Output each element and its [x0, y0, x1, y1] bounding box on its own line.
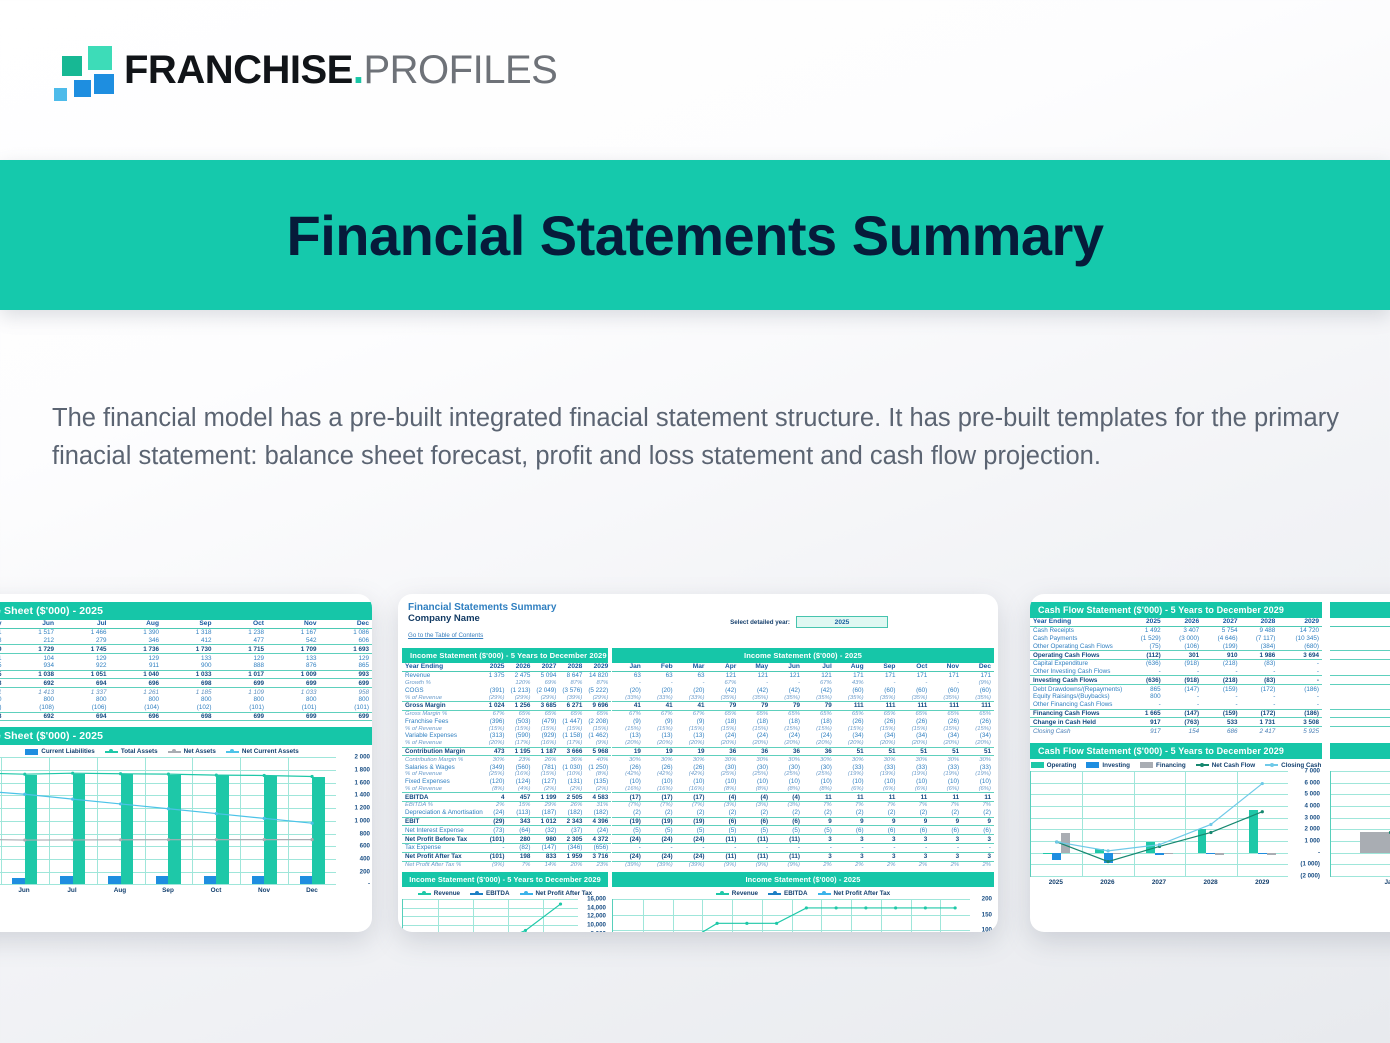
column-header: Year Ending [1030, 618, 1125, 626]
row-label: EBITDA [402, 793, 486, 802]
cash-flow-extra-x-axis: Jan [1330, 879, 1390, 886]
table-cell: (10%) [559, 771, 585, 778]
table-cell: (10) [676, 778, 708, 786]
table-cell: (47) [1330, 635, 1390, 643]
column-header: May [739, 663, 771, 671]
table-cell: (35%) [835, 694, 867, 701]
table-cell: 30% [739, 756, 771, 763]
table-cell: (24) [612, 835, 644, 844]
table-cell: (218) [1202, 659, 1240, 667]
table-cell: 3 [930, 852, 962, 861]
table-cell: (396) [486, 717, 508, 725]
legend-item: Net Profit After Tax [520, 890, 593, 897]
table-cell: (19%) [930, 771, 962, 778]
table-row: Tax Expense-(82)(147)(346)(656) [402, 843, 611, 852]
table-row: (17)(17)(17)(4)(4)(4)111111111111 [612, 793, 994, 802]
table-cell: 3 [835, 852, 867, 861]
table-cell: 911 [110, 662, 163, 670]
axis-tick-label: Jun [0, 887, 48, 894]
table-cell: (763) [1164, 718, 1202, 727]
table-cell: (929) [533, 732, 559, 740]
table-cell: (19%) [898, 771, 930, 778]
legend-item: Financing [1140, 762, 1186, 769]
table-cell: (11) [707, 835, 739, 844]
table-cell: (5) [707, 826, 739, 835]
table-cell: (25%) [486, 771, 508, 778]
table-cell: (6) [835, 826, 867, 835]
table-cell: - [739, 843, 771, 852]
table-cell: (147) [533, 843, 559, 852]
row-label: Cash Receipts [1030, 626, 1125, 634]
column-header: Dec [320, 620, 373, 628]
table-cell: 800 [57, 696, 110, 704]
table-row: 67%67%67%65%65%65%65%65%65%65%65%65% [612, 710, 994, 717]
table-cell: 171 [930, 671, 962, 679]
table-cell: (1 158) [559, 732, 585, 740]
table-cell: (2) [739, 809, 771, 817]
brand-name-dot: . [353, 48, 364, 92]
table-cell: (19%) [867, 771, 899, 778]
cash-flow-extra-plot [1330, 771, 1390, 877]
table-cell: 111 [835, 701, 867, 710]
table-cell: 2% [867, 861, 899, 868]
legend-item: Investing [1086, 762, 1130, 769]
table-cell: - [1241, 668, 1279, 676]
cash-flow-card: Cash Flow Statement ($'000) - 5 Years to… [1030, 594, 1390, 932]
table-cell: 3 407 [1164, 626, 1202, 634]
legend-item: Current Liabilities [25, 748, 95, 755]
column-header: Jan [612, 663, 644, 671]
table-cell: 154 [1164, 727, 1202, 735]
balance-sheet-table-title: Balance Sheet ($'000) - 2025 [0, 602, 372, 620]
table-cell: 51 [867, 747, 899, 756]
is-annual-table-title: Income Statement ($'000) - 5 Years to De… [402, 648, 608, 663]
legend-item: Net Assets [168, 748, 216, 755]
axis-tick-label: (1 000) [1300, 861, 1320, 868]
table-row: COGS(391)(1 213)(2 049)(3 576)(5 222) [402, 686, 611, 694]
table-cell: 5 968 [585, 747, 611, 756]
table-cell: (7 117) [1241, 635, 1279, 643]
table-cell: (15%) [507, 725, 533, 732]
table-row: Gross Margin %67%65%65%65%65% [402, 710, 611, 717]
table-cell: (187) [533, 809, 559, 817]
table-cell: (15%) [962, 725, 994, 732]
table-cell: 1 318 [162, 628, 215, 636]
table-cell: 30% [803, 756, 835, 763]
cash-flow-y-axis: 7 0006 0005 0004 0003 0002 0001 000-(1 0… [1288, 771, 1322, 877]
table-cell: 1 195 [507, 747, 533, 756]
legend-swatch [25, 749, 38, 755]
column-header: 2025 [486, 663, 508, 671]
column-header: Sep [867, 663, 899, 671]
table-row: Cash Payments(1 529)(3 000)(4 646)(7 117… [1030, 635, 1322, 643]
table-row: % of Revenue(29%)(29%)(29%)(39%)(29%) [402, 694, 611, 701]
table-cell: (10) [867, 778, 899, 786]
legend-swatch [520, 893, 533, 895]
table-cell: (17%) [507, 740, 533, 747]
table-row: 800800800800800800800800 [0, 696, 372, 704]
table-cell: (33%) [676, 694, 708, 701]
table-cell: - [1278, 659, 1322, 667]
table-cell: 2 505 [559, 793, 585, 802]
table-cell: 129 [320, 654, 373, 662]
table-cell: 30% [486, 756, 508, 763]
table-cell: 800 [320, 696, 373, 704]
table-cell: (37) [559, 826, 585, 835]
legend-swatch [1196, 764, 1209, 766]
table-cell: 3 [835, 835, 867, 844]
legend-swatch [105, 751, 118, 753]
table-row: (39%)(39%)(39%)(9%)(9%)(9%)2%2%2%2%2%2% [612, 861, 994, 868]
table-cell: - [1164, 693, 1202, 701]
table-row: Net Profit Before Tax(101)2809802 3054 3… [402, 835, 611, 844]
table-cell: 11 [835, 793, 867, 802]
column-header: 2029 [585, 663, 611, 671]
table-cell: 2% [835, 861, 867, 868]
table-cell: (313) [486, 732, 508, 740]
table-cell: (101) [486, 852, 508, 861]
table-cell: (15%) [533, 725, 559, 732]
legend-label: Current Liabilities [41, 748, 95, 755]
table-row: Fixed Expenses(120)(124)(127)(131)(135) [402, 778, 611, 786]
row-label: Change in Cash Held [1030, 718, 1125, 727]
table-cell: 171 [835, 671, 867, 679]
table-cell: 15% [507, 802, 533, 809]
table-cell: 9 488 [1241, 626, 1279, 634]
table-cell: (11) [707, 852, 739, 861]
table-cell: (20) [676, 686, 708, 694]
table-cell: 121 [803, 671, 835, 679]
table-cell: 1 199 [533, 793, 559, 802]
is-annual-plot [402, 899, 578, 932]
table-row: (24)(24)(24)(11)(11)(11)333333 [612, 852, 994, 861]
table-cell: 11 [962, 793, 994, 802]
table-cell: (4%) [507, 786, 533, 793]
table-cell: (9) [644, 717, 676, 725]
table-cell: - [1125, 668, 1163, 676]
table-cell: (8%) [803, 786, 835, 793]
table-cell: 40% [585, 756, 611, 763]
column-header: Nov [930, 663, 962, 671]
table-cell: (24) [585, 826, 611, 835]
table-cell: (2) [930, 809, 962, 817]
table-row: Investing Cash Flows(636)(918)(218)(83)- [1030, 676, 1322, 685]
brand-name-light: PROFILES [363, 48, 557, 92]
table-cell: 1 731 [1330, 718, 1390, 727]
table-cell: - [739, 680, 771, 687]
table-cell: (24) [803, 732, 835, 740]
table-cell: - [644, 843, 676, 852]
table-row: - [1330, 668, 1390, 676]
table-cell: (42%) [644, 771, 676, 778]
row-label: Gross Margin [402, 701, 486, 710]
table-cell: (391) [486, 686, 508, 694]
table-row: Contribution Margin %30%23%26%36%40% [402, 756, 611, 763]
table-cell: 4 372 [585, 835, 611, 844]
table-cell: 922 [57, 662, 110, 670]
table-row: Equity Raisings/(Buybacks)800---- [1030, 693, 1322, 701]
table-cell: (10) [835, 778, 867, 786]
table-cell: (5) [803, 826, 835, 835]
table-cell: 694 [57, 712, 110, 721]
table-cell: (6) [898, 826, 930, 835]
table-cell: 129 [57, 654, 110, 662]
table-cell: (1 030) [559, 763, 585, 771]
axis-tick-label: 400 [360, 855, 370, 862]
table-cell: 1 959 [559, 852, 585, 861]
table-cell: - [1278, 693, 1322, 701]
legend-swatch [1265, 764, 1278, 766]
table-cell: (17%) [559, 740, 585, 747]
row-label: % of Revenue [402, 771, 486, 778]
table-cell: 1 413 [5, 688, 58, 696]
table-cell [486, 680, 508, 687]
table-cell: 1 185 [162, 688, 215, 696]
row-label: Closing Cash [1030, 727, 1125, 735]
table-cell: 1 038 [5, 670, 58, 679]
table-cell: (29%) [507, 694, 533, 701]
table-cell: - [1164, 701, 1202, 709]
table-cell: - [867, 843, 899, 852]
table-cell: 7% [507, 861, 533, 868]
table-cell: (9%) [739, 861, 771, 868]
table-cell: (918) [1164, 659, 1202, 667]
table-cell: (15%) [533, 771, 559, 778]
table-cell: 3 [962, 852, 994, 861]
table-cell: - [1241, 693, 1279, 701]
table-cell: (11) [771, 852, 803, 861]
table-cell: (35%) [867, 694, 899, 701]
table-cell: 800 [1125, 693, 1163, 701]
table-row: Gross Margin1 0241 2563 6856 2719 696 [402, 701, 611, 710]
table-cell: 104 [5, 654, 58, 662]
table-cell: 1 051 [57, 670, 110, 679]
table-cell: (13) [644, 732, 676, 740]
table-cell: 111 [962, 701, 994, 710]
row-label: Net Profit After Tax [402, 852, 486, 861]
table-cell: (8%) [707, 786, 739, 793]
table-cell: (680) [1278, 642, 1322, 650]
row-label: Other Financing Cash Flows [1030, 701, 1125, 709]
table-cell: 4 396 [585, 817, 611, 826]
year-selector-label: Select detailed year: [730, 619, 790, 626]
legend-swatch [818, 893, 831, 895]
table-cell: 67% [644, 710, 676, 717]
table-row: % of Revenue(8%)(4%)(2%)(2%)(2%) [402, 786, 611, 793]
table-cell: (8%) [771, 786, 803, 793]
table-cell: (2) [612, 809, 644, 817]
table-row: 30%30%30%30%30%30%30%30%30%30%30%30% [612, 756, 994, 763]
table-cell: 3 716 [585, 852, 611, 861]
table-cell: (20%) [930, 740, 962, 747]
table-row: (16%)(16%)(16%)(8%)(8%)(8%)(8%)(6%)(6%)(… [612, 786, 994, 793]
table-cell: (106) [57, 704, 110, 712]
brand-wordmark: FRANCHISE.PROFILES [124, 48, 557, 93]
table-cell: (39%) [612, 861, 644, 868]
table-cell: (19) [612, 817, 644, 826]
table-cell: (33%) [644, 694, 676, 701]
table-cell: 2 475 [507, 671, 533, 679]
table-cell: (20%) [867, 740, 899, 747]
brand-logo: FRANCHISE.PROFILES [50, 44, 557, 96]
table-cell: 121 [739, 671, 771, 679]
axis-tick-label: 16,000 [587, 896, 606, 903]
balance-sheet-chart-legend: Current LiabilitiesTotal AssetsNet Asset… [0, 745, 372, 757]
column-header: Dec [962, 663, 994, 671]
axis-tick-label: 150 [982, 911, 992, 918]
table-cell: 11 [867, 793, 899, 802]
table-cell: (182) [559, 809, 585, 817]
table-cell: (1 447) [559, 717, 585, 725]
table-cell: (15%) [644, 725, 676, 732]
table-cell: 79 [707, 701, 739, 710]
table-cell: 9 [898, 817, 930, 826]
table-cell: - [898, 680, 930, 687]
legend-swatch [1140, 762, 1153, 768]
table-cell: (8%) [486, 786, 508, 793]
table-cell: 1 261 [110, 688, 163, 696]
table-cell: (33) [835, 763, 867, 771]
table-cell: (25%) [771, 771, 803, 778]
balance-sheet-x-axis: MayJunJulAugSepOctNovDec [0, 887, 336, 894]
table-row: 703692694696698699699699 [0, 712, 372, 721]
table-row: (20)(20)(20)(42)(42)(42)(42)(60)(60)(60)… [612, 686, 994, 694]
table-cell: 65% [533, 710, 559, 717]
legend-label: Net Profit After Tax [536, 890, 593, 897]
table-row: 636363121121121121171171171171171 [612, 671, 994, 679]
table-cell: (33%) [612, 694, 644, 701]
table-cell: 833 [533, 852, 559, 861]
table-cell: 65% [707, 710, 739, 717]
table-cell: (135) [585, 778, 611, 786]
legend-swatch [418, 893, 431, 895]
table-cell: (24) [707, 732, 739, 740]
legend-label: Net Cash Flow [1212, 762, 1255, 769]
table-cell: (15%) [612, 725, 644, 732]
table-cell: 1 730 [162, 645, 215, 654]
table-cell: (2) [707, 809, 739, 817]
table-cell: (503) [507, 717, 533, 725]
table-cell: 63 [612, 671, 644, 679]
table-cell: 30% [867, 756, 899, 763]
table-cell: (20%) [835, 740, 867, 747]
table-cell: 1 736 [110, 645, 163, 654]
table-cell: (33) [867, 763, 899, 771]
table-cell: 65% [739, 710, 771, 717]
table-row: Contribution Margin4731 1951 1873 6665 9… [402, 747, 611, 756]
table-cell: (349) [486, 763, 508, 771]
table-row: 41414179797979111111111111111 [612, 701, 994, 710]
table-cell: (9%) [486, 861, 508, 868]
table-cell: 876 [267, 662, 320, 670]
axis-tick-label: Jan [1330, 879, 1390, 886]
table-cell: (3 000) [1164, 635, 1202, 643]
table-cell: (29%) [585, 694, 611, 701]
table-cell: (42) [803, 686, 835, 694]
table-cell: (147) [1164, 709, 1202, 718]
table-cell: (10) [707, 778, 739, 786]
table-cell: (9%) [585, 740, 611, 747]
axis-tick-label: 2029 [1236, 879, 1288, 886]
row-label: Debt Drawdowns/(Repayments) [1030, 685, 1125, 693]
table-cell: 51 [930, 747, 962, 756]
table-cell: (15%) [867, 725, 899, 732]
table-cell: (4) [707, 793, 739, 802]
table-row: Depreciation & Amortisation(24)(113)(187… [402, 809, 611, 817]
table-row: 191919363636365151515151 [612, 747, 994, 756]
axis-tick-label: 1 200 [355, 805, 370, 812]
table-cell: (26) [835, 717, 867, 725]
table-cell: 9 [835, 817, 867, 826]
table-cell: 65% [771, 710, 803, 717]
table-row: EBIT(29)3431 0122 3434 396 [402, 817, 611, 826]
table-row: (7) [1330, 642, 1390, 650]
table-cell: (7%) [644, 802, 676, 809]
table-row: (7%)(7%)(7%)(3%)(3%)(3%)7%7%7%7%7%7% [612, 802, 994, 809]
table-cell: (10) [739, 778, 771, 786]
table-cell: (20%) [486, 740, 508, 747]
axis-tick-label: 2 000 [1305, 826, 1320, 833]
table-cell: 1 256 [507, 701, 533, 710]
table-cell: 1 665 [1125, 709, 1163, 718]
row-label: Fixed Expenses [402, 778, 486, 786]
legend-swatch [226, 751, 239, 753]
table-cell: 5 094 [533, 671, 559, 679]
table-cell: 1 745 [57, 645, 110, 654]
table-cell: (384) [1241, 642, 1279, 650]
table-row: % of Revenue(15%)(15%)(15%)(15%)(15%) [402, 725, 611, 732]
table-cell: 63 [676, 671, 708, 679]
legend-item: Net Cash Flow [1196, 762, 1255, 769]
table-cell: 2% [898, 861, 930, 868]
table-cell: (2) [835, 809, 867, 817]
table-cell: (918) [1164, 676, 1202, 685]
table-cell: (11) [739, 835, 771, 844]
table-cell: 800 [1330, 693, 1390, 701]
column-header: 2026 [507, 663, 533, 671]
table-cell: (35%) [803, 694, 835, 701]
table-row: Financing Cash Flows1 665(147)(159)(172)… [1030, 709, 1322, 718]
table-row: Net Profit After Tax(101)1988331 9593 71… [402, 852, 611, 861]
axis-tick-label: 800 [360, 830, 370, 837]
table-row: 178212279346412477542606 [0, 637, 372, 645]
table-row: Variable Expenses(313)(590)(929)(1 158)(… [402, 732, 611, 740]
table-cell: - [612, 843, 644, 852]
axis-tick-label: (2 000) [1300, 872, 1320, 879]
axis-tick-label: Aug [96, 887, 144, 894]
table-cell: (24) [676, 852, 708, 861]
table-cell: 19 [676, 747, 708, 756]
table-cell: (3%) [771, 802, 803, 809]
table-cell: 67% [612, 710, 644, 717]
row-label: Growth % [402, 680, 486, 687]
table-cell: (1 250) [585, 763, 611, 771]
table-cell: 1 033 [267, 688, 320, 696]
table-cell: (8%) [585, 771, 611, 778]
row-label: % of Revenue [402, 786, 486, 793]
table-cell: 800 [5, 696, 58, 704]
table-cell: - [898, 843, 930, 852]
axis-tick-label: 1 400 [355, 792, 370, 799]
table-of-contents-link[interactable]: Go to the Table of Contents [408, 632, 483, 639]
table-cell: 2% [930, 861, 962, 868]
table-cell: 699 [320, 712, 373, 721]
table-cell: (1 462) [585, 732, 611, 740]
table-cell: 6 271 [559, 701, 585, 710]
row-label: % of Revenue [402, 725, 486, 732]
table-cell: (10) [644, 778, 676, 786]
year-selector-input[interactable]: 2025 [796, 616, 888, 628]
